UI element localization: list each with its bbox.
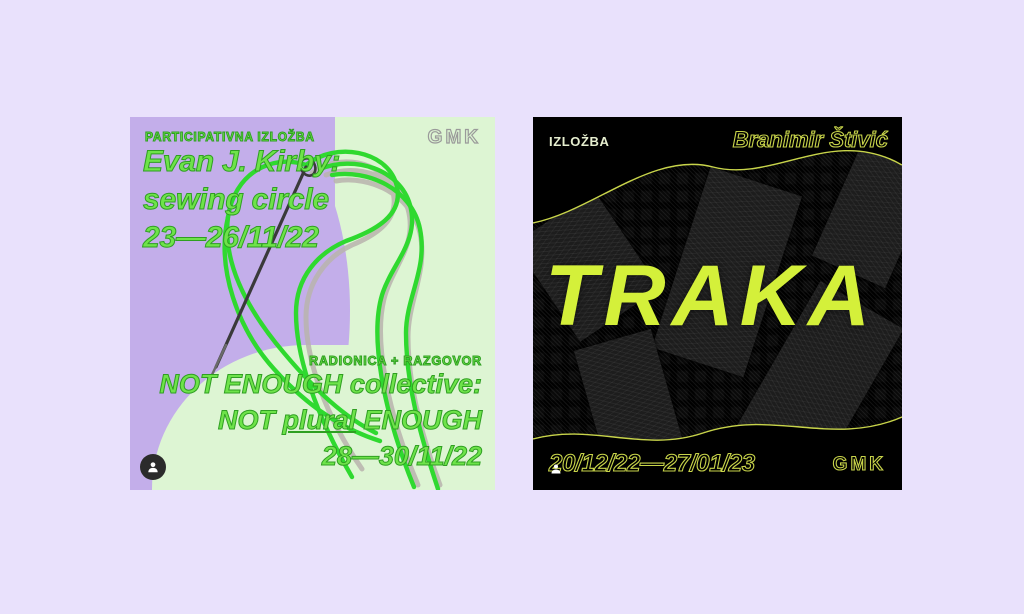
traka-headline: TRAKA [545, 253, 876, 339]
plural-word: plural [282, 405, 356, 435]
left-poster-title-line2: sewing circle [143, 183, 329, 217]
person-avatar-icon [146, 460, 160, 474]
enough-word: ENOUGH [356, 405, 482, 435]
person-avatar-icon-right[interactable] [549, 462, 563, 476]
not-word: NOT [218, 405, 283, 435]
right-poster-artist-name: Branimir Štivić [733, 127, 888, 153]
gmk-logo-left[interactable]: GMK [428, 127, 481, 149]
poster-gallery-canvas: PARTICIPATIVNA IZLOŽBA Evan J. Kirby: se… [0, 0, 1024, 614]
left-poster-title-line1: Evan J. Kirby: [143, 145, 340, 179]
right-poster-dates: 20/12/22—27/01/23 [549, 450, 755, 478]
person-avatar-icon [550, 463, 562, 475]
left-poster-kicker-top: PARTICIPATIVNA IZLOŽBA [145, 130, 315, 144]
person-avatar-icon-left[interactable] [140, 454, 166, 480]
left-poster-dates-bottom: 28—30/11/22 [322, 441, 482, 472]
poster-traka[interactable]: IZLOŽBA Branimir Štivić TRAKA 20/12/22—2… [533, 117, 902, 490]
left-poster-dates-top: 23—26/11/22 [143, 221, 319, 255]
left-poster-title-line3: NOT ENOUGH collective: [159, 369, 482, 400]
left-poster-title-line4: NOT plural ENOUGH [218, 405, 482, 436]
left-poster-kicker-bottom: RADIONICA + RAZGOVOR [309, 354, 482, 368]
poster-evan-kirby[interactable]: PARTICIPATIVNA IZLOŽBA Evan J. Kirby: se… [130, 117, 495, 490]
gmk-logo-right[interactable]: GMK [833, 454, 886, 476]
right-poster-kicker: IZLOŽBA [549, 134, 610, 149]
